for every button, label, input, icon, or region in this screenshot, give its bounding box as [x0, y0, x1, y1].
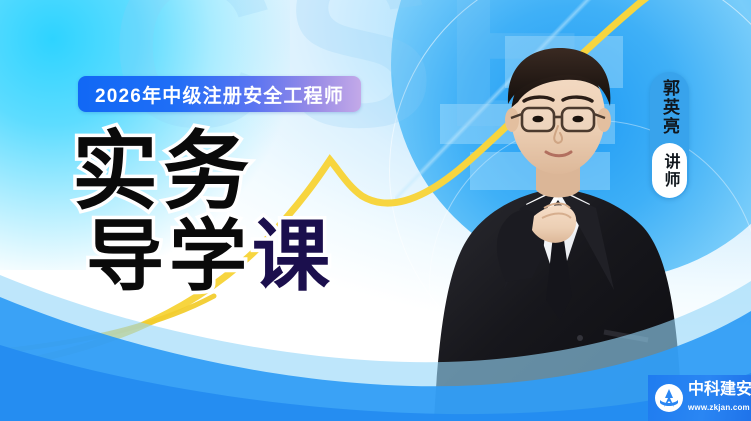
zkjan-emblem-icon: [655, 384, 683, 412]
brand-logo: 中科建安 www.zkjan.com: [648, 375, 751, 421]
instructor-badge: 郭英亮 讲师: [650, 72, 689, 199]
course-subtitle-text: 2026年中级注册安全工程师: [95, 81, 344, 108]
instructor-name: 郭英亮: [661, 79, 678, 136]
course-title-line2: 导学课: [86, 218, 402, 294]
brand-url: www.zkjan.com: [688, 403, 750, 412]
course-title-line2-accent: 课: [252, 212, 335, 300]
brand-logo-text: 中科建安 www.zkjan.com: [688, 382, 751, 414]
course-subtitle-badge: 2026年中级注册安全工程师: [78, 76, 361, 112]
ear-left: [505, 108, 519, 132]
ear-right: [597, 108, 611, 132]
instructor-role-chip: 讲师: [652, 143, 687, 198]
course-title-line2-main: 导学: [86, 212, 252, 300]
eye-right: [572, 116, 583, 123]
zkjan-emblem-glyph: [655, 384, 683, 412]
course-cover-poster: CSE: [0, 0, 751, 421]
course-title: 实务 导学课: [72, 130, 402, 295]
instructor-role: 讲师: [662, 153, 678, 189]
brand-name: 中科建安: [688, 381, 751, 398]
eye-left: [532, 116, 543, 123]
course-title-line1: 实务: [72, 130, 402, 214]
